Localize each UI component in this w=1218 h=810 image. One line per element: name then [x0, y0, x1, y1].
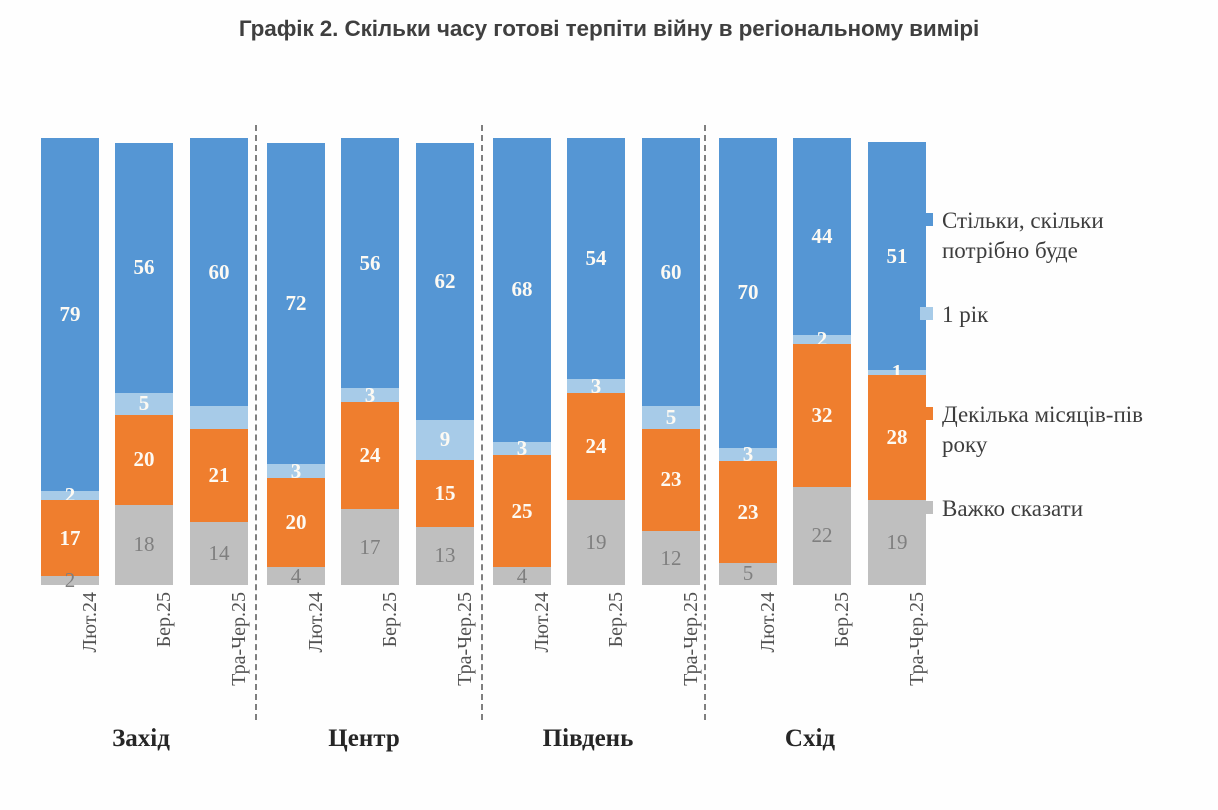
- bar-segment: 68: [493, 138, 551, 442]
- x-tick-label: Бер.25: [379, 592, 402, 647]
- bar-value-label: 24: [360, 445, 381, 466]
- x-tick-label: Бер.25: [153, 592, 176, 647]
- bar-segment: 17: [41, 500, 99, 576]
- bar-segment: 2: [41, 491, 99, 500]
- x-tick-label: Лют.24: [79, 592, 102, 652]
- bar-value-label: 24: [586, 436, 607, 457]
- bar-segment: 3: [341, 388, 399, 401]
- bar-value-label: 22: [812, 525, 833, 546]
- bar-segment: 5: [642, 406, 700, 428]
- bar-segment: 56: [341, 138, 399, 388]
- bar-segment: 4: [267, 567, 325, 585]
- bar-segment: 62: [416, 143, 474, 420]
- bar-segment: 24: [341, 402, 399, 509]
- group-label-4: Схід: [730, 725, 890, 753]
- bar-value-label: 70: [738, 282, 759, 303]
- bar-segment: 5: [115, 393, 173, 415]
- bar-column: 5432419: [567, 138, 625, 585]
- bar-column: 5632417: [341, 138, 399, 585]
- bar-segment: 60: [190, 138, 248, 406]
- x-tick-label: Лют.24: [305, 592, 328, 652]
- bar-segment: 22: [793, 487, 851, 585]
- bar-segment: 14: [190, 522, 248, 585]
- bar-value-label: 79: [60, 304, 81, 325]
- x-tick-label: Тра-Чер.25: [680, 592, 703, 686]
- bar-segment: 60: [642, 138, 700, 406]
- bar-column: 6291513: [416, 138, 474, 585]
- bar-column: 723204: [267, 138, 325, 585]
- bar-segment: 3: [267, 464, 325, 477]
- bar-value-label: 23: [738, 502, 759, 523]
- legend-item-few-months-half-year[interactable]: Декілька місяців-пів року: [920, 400, 1192, 461]
- legend-swatch-icon: [920, 213, 933, 226]
- bar-segment: 15: [416, 460, 474, 527]
- bar-segment: 70: [719, 138, 777, 448]
- bar-value-label: 13: [435, 545, 456, 566]
- bar-segment: 13: [416, 527, 474, 585]
- bar-value-label: 60: [661, 262, 682, 283]
- bar-segment: 2: [793, 335, 851, 344]
- page-title: Графік 2. Скільки часу готові терпіти ві…: [0, 16, 1218, 42]
- bar-value-label: 56: [134, 257, 155, 278]
- bar-segment: 2: [41, 576, 99, 585]
- bar-value-label: 19: [887, 532, 908, 553]
- x-tick-label: Тра-Чер.25: [454, 592, 477, 686]
- group-divider-3: [704, 125, 706, 720]
- group-label-1: Захід: [61, 725, 221, 753]
- bar-segment: 23: [642, 429, 700, 532]
- bar-value-label: 2: [65, 570, 76, 591]
- bar-value-label: 4: [291, 566, 302, 587]
- x-tick-label: Лют.24: [757, 592, 780, 652]
- bar-segment: 25: [493, 455, 551, 567]
- x-tick-label: Бер.25: [831, 592, 854, 647]
- bar-value-label: 17: [60, 528, 81, 549]
- legend-item-label: Стільки, скільки потрібно буде: [942, 206, 1192, 267]
- bar-segment: 72: [267, 143, 325, 465]
- bar-segment: 56: [115, 143, 173, 393]
- bar-value-label: 19: [586, 532, 607, 553]
- bar-segment: 19: [567, 500, 625, 585]
- bar-segment: 54: [567, 138, 625, 379]
- bar-value-label: 14: [209, 543, 230, 564]
- bar-column: 5112819: [868, 138, 926, 585]
- bar-column: 5652018: [115, 138, 173, 585]
- bar-segment: 3: [493, 442, 551, 455]
- bar-value-label: 62: [435, 271, 456, 292]
- bar-segment: 12: [642, 531, 700, 585]
- bar-segment: 79: [41, 138, 99, 491]
- group-label-3: Південь: [508, 725, 668, 753]
- group-divider-2: [481, 125, 483, 720]
- bar-value-label: 5: [666, 407, 677, 428]
- bar-segment: 3: [719, 448, 777, 461]
- bar-value-label: 68: [512, 279, 533, 300]
- legend-swatch-icon: [920, 501, 933, 514]
- bar-segment: 51: [868, 142, 926, 370]
- legend-swatch-icon: [920, 307, 933, 320]
- bar-column: 703235: [719, 138, 777, 585]
- bar-value-label: 54: [586, 248, 607, 269]
- bar-value-label: 23: [661, 469, 682, 490]
- bar-value-label: 56: [360, 253, 381, 274]
- bar-segment: 28: [868, 375, 926, 500]
- bar-segment: 20: [115, 415, 173, 504]
- bar-segment: 20: [267, 478, 325, 567]
- bar-value-label: 4: [517, 566, 528, 587]
- legend-item-label: Декілька місяців-пів року: [942, 400, 1192, 461]
- bar-value-label: 17: [360, 537, 381, 558]
- bar-value-label: 15: [435, 483, 456, 504]
- bar-value-label: 25: [512, 501, 533, 522]
- legend-item-hard-to-say[interactable]: Важко сказати: [920, 494, 1083, 524]
- x-tick-label: Бер.25: [605, 592, 628, 647]
- bar-value-label: 28: [887, 427, 908, 448]
- group-label-2: Центр: [284, 725, 444, 753]
- legend-swatch-icon: [920, 407, 933, 420]
- bar-segment: 24: [567, 393, 625, 500]
- bar-segment: 9: [416, 420, 474, 460]
- legend-item-label: 1 рік: [942, 300, 988, 330]
- bar-column: 4423222: [793, 138, 851, 585]
- bar-value-label: 5: [743, 563, 754, 584]
- bar-value-label: 51: [887, 246, 908, 267]
- bar-column: 6052312: [642, 138, 700, 585]
- bar-value-label: 20: [286, 512, 307, 533]
- bar-segment: 44: [793, 138, 851, 335]
- legend-item-as-long-as-needed[interactable]: Стільки, скільки потрібно буде: [920, 206, 1192, 267]
- bar-segment: 4: [493, 567, 551, 585]
- x-tick-label: Тра-Чер.25: [228, 592, 251, 686]
- bar-value-label: 21: [209, 465, 230, 486]
- x-tick-label: Тра-Чер.25: [906, 592, 929, 686]
- bar-segment: 19: [868, 500, 926, 585]
- bar-segment: 3: [567, 379, 625, 392]
- bar-segment: [190, 406, 248, 428]
- bar-segment: 17: [341, 509, 399, 585]
- bar-value-label: 9: [440, 429, 451, 450]
- bar-segment: 32: [793, 344, 851, 487]
- bar-value-label: 60: [209, 262, 230, 283]
- bar-segment: 23: [719, 461, 777, 563]
- bar-column: 792172: [41, 138, 99, 585]
- bar-value-label: 72: [286, 293, 307, 314]
- bar-value-label: 18: [134, 534, 155, 555]
- bar-column: 602114: [190, 138, 248, 585]
- group-divider-1: [255, 125, 257, 720]
- bar-segment: 5: [719, 563, 777, 585]
- bar-value-label: 5: [139, 393, 150, 414]
- chart-page: Графік 2. Скільки часу готові терпіти ві…: [0, 0, 1218, 810]
- legend-item-label: Важко сказати: [942, 494, 1083, 524]
- plot-area: 7921725652018602114723204563241762915136…: [35, 138, 915, 585]
- bar-segment: 18: [115, 505, 173, 585]
- bar-segment: 21: [190, 429, 248, 523]
- x-tick-label: Лют.24: [531, 592, 554, 652]
- bar-column: 683254: [493, 138, 551, 585]
- legend-item-one-year[interactable]: 1 рік: [920, 300, 988, 330]
- bar-value-label: 12: [661, 548, 682, 569]
- bar-value-label: 32: [812, 405, 833, 426]
- bar-value-label: 44: [812, 226, 833, 247]
- bar-value-label: 20: [134, 449, 155, 470]
